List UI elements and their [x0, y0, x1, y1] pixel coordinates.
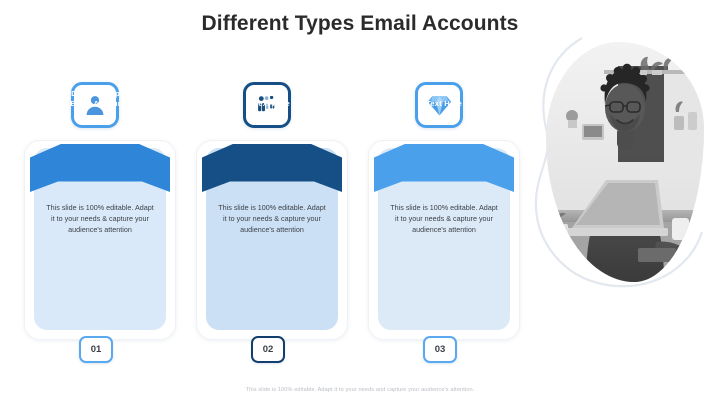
footer-note: This slide is 100% editable. Adapt it to…	[0, 387, 720, 393]
photo-figure	[530, 32, 710, 292]
card-banner-label-02: Add Text Here	[196, 89, 348, 109]
card-body-text-03: This slide is 100% editable. Adapt it to…	[390, 202, 498, 235]
slide-canvas: Different Types Email Accounts This slid…	[0, 0, 720, 404]
card-body-text-02: This slide is 100% editable. Adapt it to…	[218, 202, 326, 235]
card-01[interactable]: This slide is 100% editable. Adapt it to…	[24, 78, 176, 368]
card-banner-label-03: Add Text Here	[368, 89, 520, 109]
card-body-text-01: This slide is 100% editable. Adapt it to…	[46, 202, 154, 235]
cards-container: This slide is 100% editable. Adapt it to…	[22, 78, 522, 368]
card-02[interactable]: This slide is 100% editable. Adapt it to…	[196, 78, 348, 368]
card-number-badge-01[interactable]: 01	[79, 336, 113, 363]
card-number-badge-02[interactable]: 02	[251, 336, 285, 363]
card-03[interactable]: This slide is 100% editable. Adapt it to…	[368, 78, 520, 368]
card-number-badge-03[interactable]: 03	[423, 336, 457, 363]
card-banner-label-01: Different Types Email Accounts	[24, 89, 176, 109]
